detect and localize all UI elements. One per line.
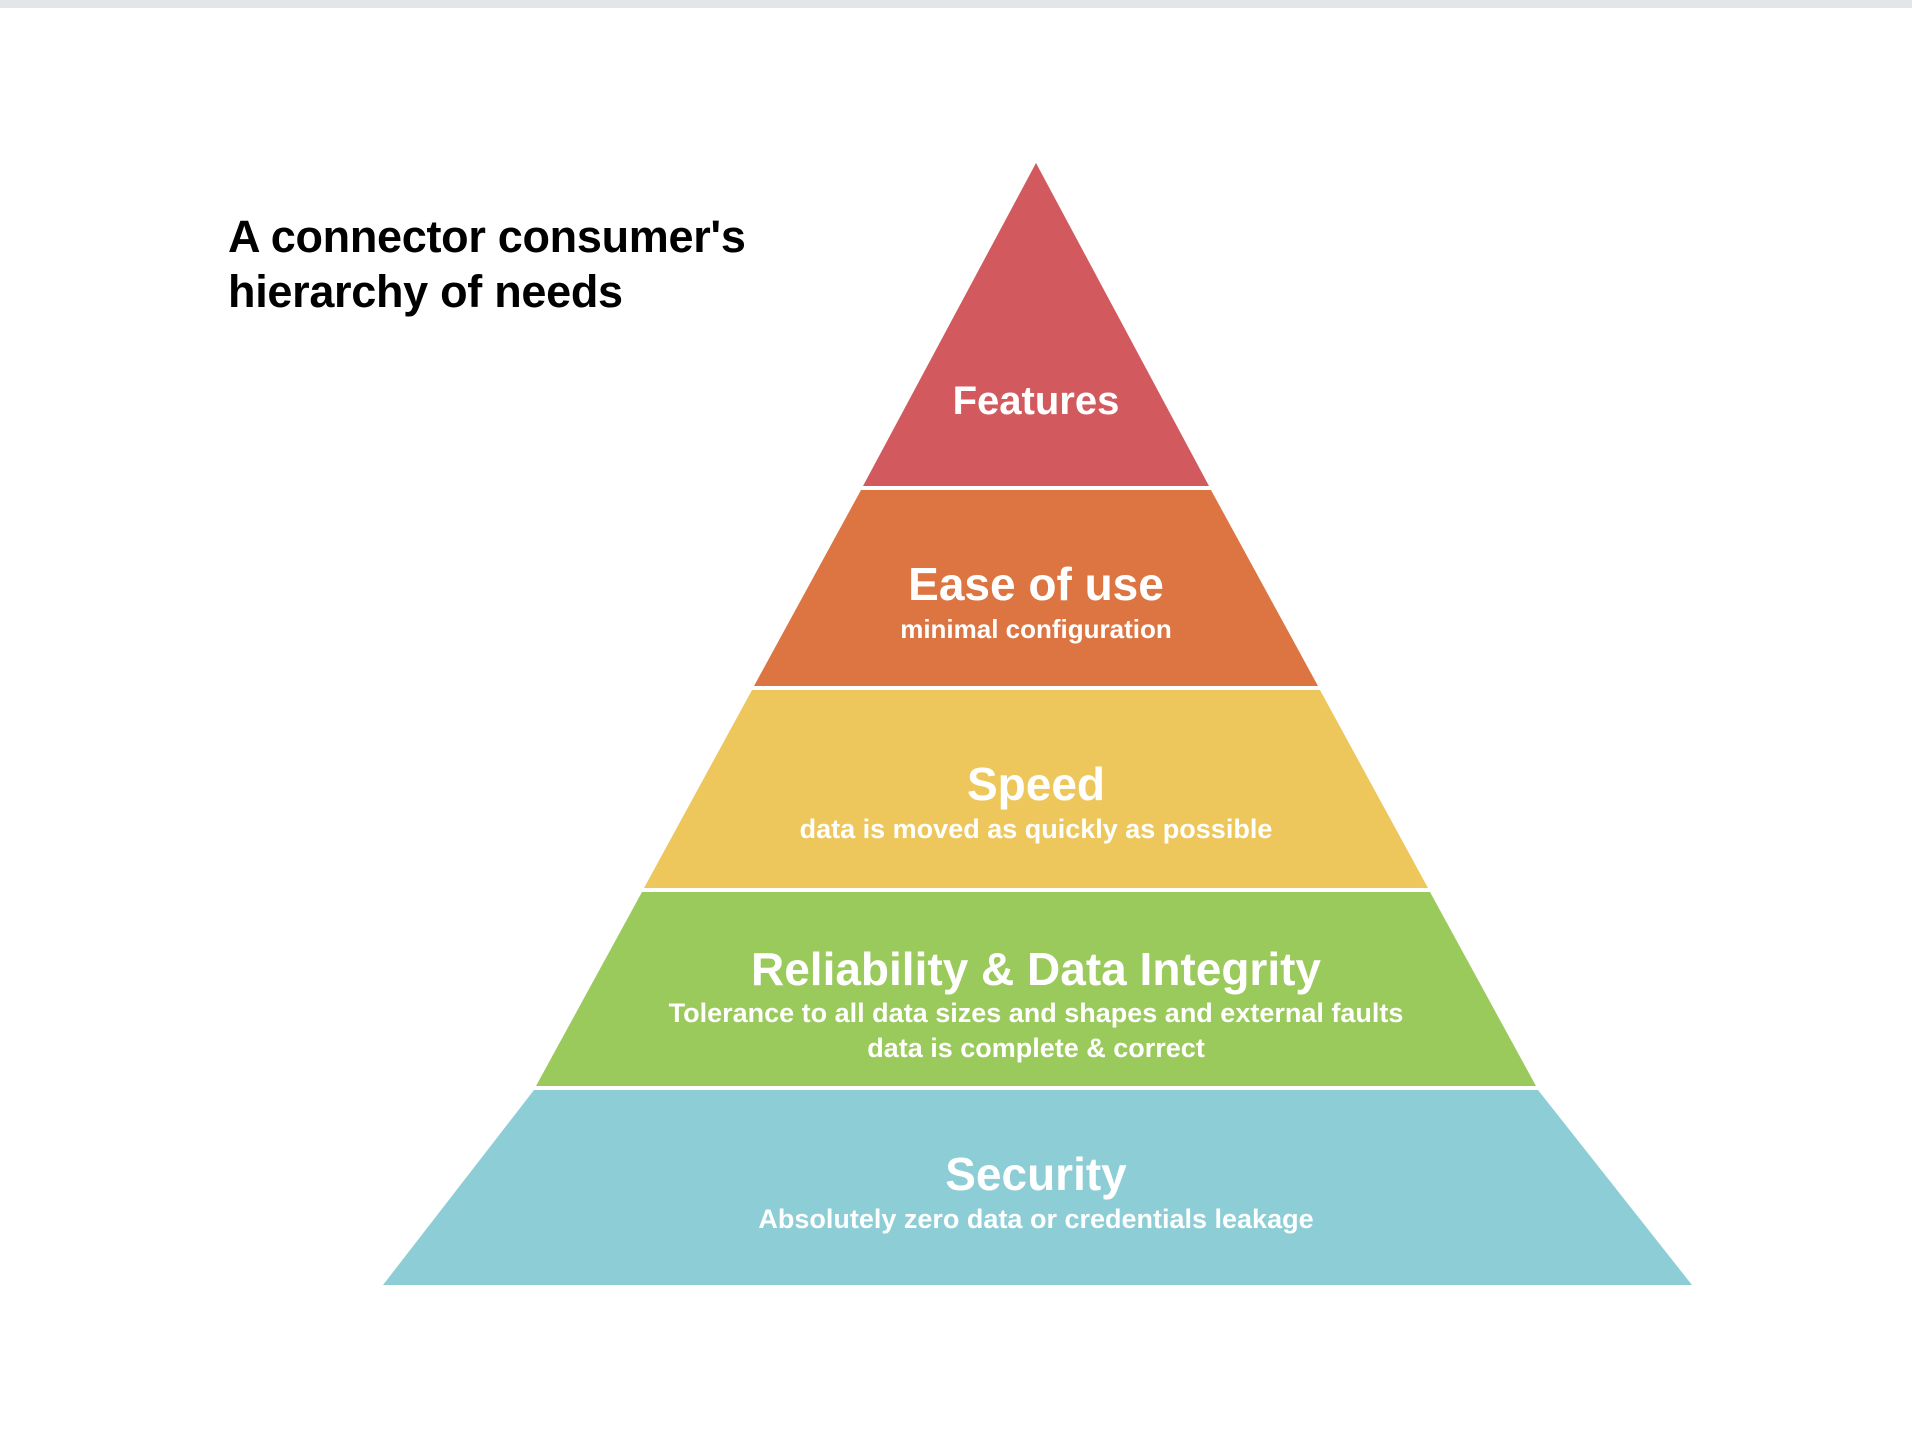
- pyramid-tier-ease-of-use[interactable]: [754, 490, 1318, 686]
- pyramid-tier-reliability[interactable]: [536, 892, 1536, 1086]
- pyramid-tier-security[interactable]: [383, 1090, 1692, 1285]
- pyramid-tier-features[interactable]: [863, 163, 1209, 486]
- pyramid-diagram: [0, 0, 1912, 1432]
- pyramid-tier-speed[interactable]: [644, 690, 1428, 888]
